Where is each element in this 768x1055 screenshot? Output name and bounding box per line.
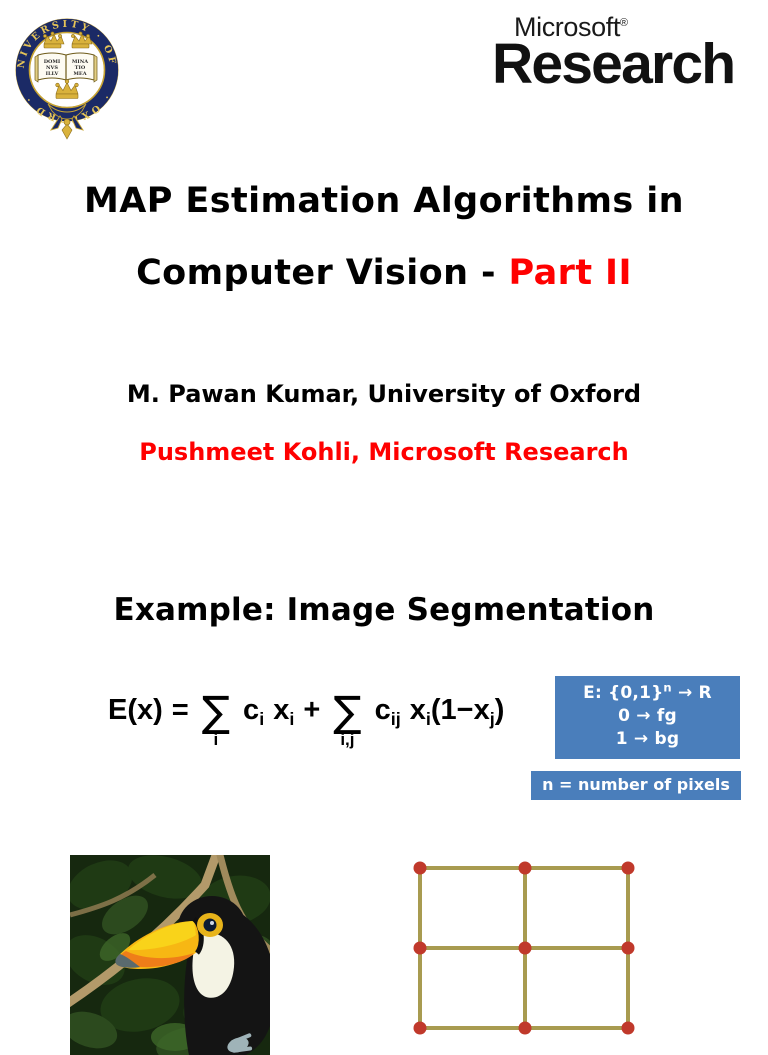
slide-title: MAP Estimation Algorithms in Computer Vi… bbox=[0, 165, 768, 309]
pixel-count-annotation: n = number of pixels bbox=[531, 771, 741, 800]
grid-node bbox=[622, 1022, 635, 1035]
summation-pairwise: ∑ i,j bbox=[333, 694, 361, 748]
grid-node bbox=[622, 862, 635, 875]
section-heading: Example: Image Segmentation bbox=[0, 592, 768, 628]
energy-domain-annotation: E: {0,1}n → R 0 → fg 1 → bg bbox=[555, 676, 740, 759]
pairwise-tail: (1−xj) bbox=[431, 694, 505, 727]
author-line-oxford: M. Pawan Kumar, University of Oxford bbox=[0, 365, 768, 423]
unary-variable: xi bbox=[273, 694, 294, 727]
sigma-index-i: i bbox=[214, 731, 219, 748]
label-bg-line: 1 → bg bbox=[555, 728, 740, 751]
title-line-1-text: MAP Estimation Algorithms in bbox=[84, 181, 684, 221]
sigma-icon: ∑ bbox=[333, 694, 361, 730]
mrf-grid-graph bbox=[400, 850, 650, 1030]
equation-equals: = bbox=[172, 694, 189, 727]
unary-coefficient: ci bbox=[243, 694, 264, 727]
svg-text:MEA: MEA bbox=[73, 71, 86, 77]
author-block: M. Pawan Kumar, University of Oxford Pus… bbox=[0, 365, 768, 481]
grid-node bbox=[414, 942, 427, 955]
sigma-index-ij: i,j bbox=[340, 731, 354, 748]
author-line-microsoft: Pushmeet Kohli, Microsoft Research bbox=[0, 423, 768, 481]
grid-node bbox=[519, 862, 532, 875]
title-line-2-text: Computer Vision - bbox=[136, 253, 508, 293]
microsoft-research-logo: Microsoft® Research bbox=[492, 14, 762, 93]
sigma-icon: ∑ bbox=[202, 694, 230, 730]
title-part-label: Part II bbox=[509, 253, 632, 293]
summation-unary: ∑ i bbox=[202, 694, 230, 748]
grid-node bbox=[519, 1022, 532, 1035]
label-fg-line: 0 → fg bbox=[555, 705, 740, 728]
toucan-photograph bbox=[70, 855, 270, 1055]
grid-node bbox=[622, 942, 635, 955]
domain-line: E: {0,1}n → R bbox=[555, 682, 740, 705]
grid-node bbox=[414, 862, 427, 875]
equation-plus: + bbox=[303, 694, 320, 727]
pairwise-coefficient: cij bbox=[375, 694, 401, 727]
title-line-1: MAP Estimation Algorithms in bbox=[0, 165, 768, 237]
research-wordmark: Research bbox=[492, 36, 762, 93]
title-line-2: Computer Vision - Part II bbox=[0, 237, 768, 309]
grid-node bbox=[414, 1022, 427, 1035]
energy-equation: E(x) = ∑ i ci xi + ∑ i,j cij xi (1−xj) bbox=[108, 694, 504, 748]
grid-node bbox=[519, 942, 532, 955]
svg-text:ILLV: ILLV bbox=[46, 71, 59, 77]
pairwise-variable: xi bbox=[410, 694, 431, 727]
equation-lhs: E(x) bbox=[108, 694, 163, 727]
trademark-symbol: ® bbox=[620, 17, 628, 29]
university-of-oxford-crest: UNIVERSITY · OF · · OXFORD · DOMINVSILLV… bbox=[8, 8, 126, 140]
